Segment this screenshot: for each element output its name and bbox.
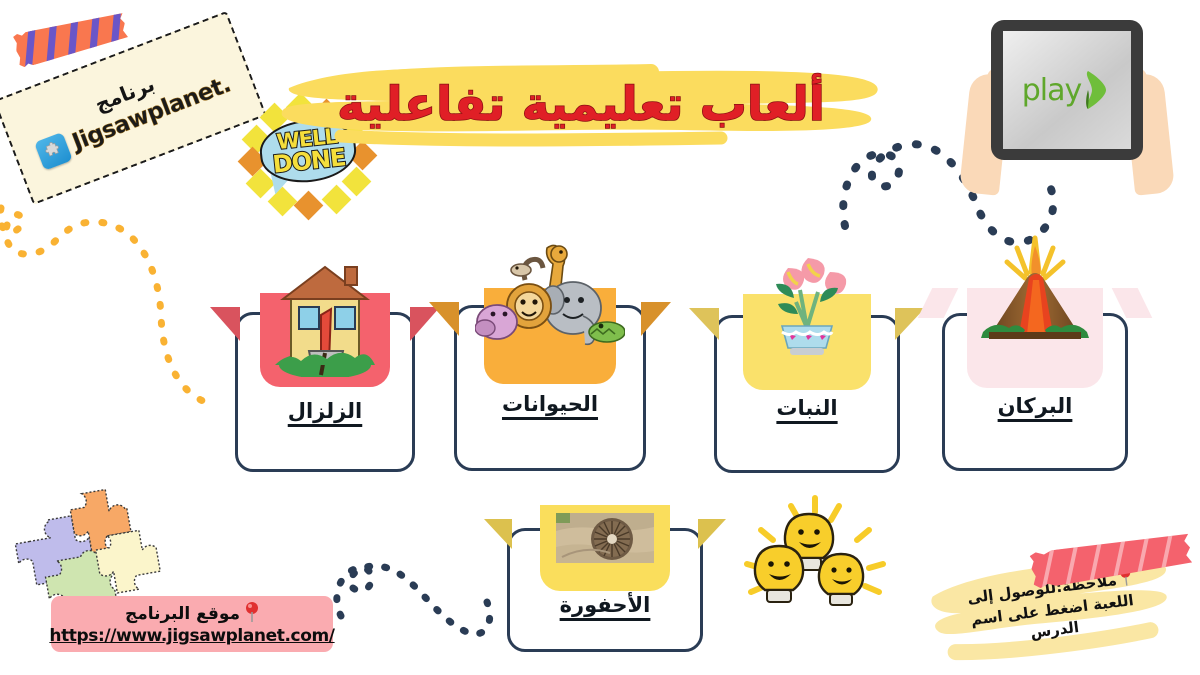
well-done-line2: DONE [273, 146, 348, 176]
website-url[interactable]: https://www.jigsawplanet.com/ [50, 626, 335, 646]
infographic-page: برنامج Jigsawplanet. WELL DONE [0, 0, 1200, 675]
page-title-text: ألعاب تعليمية تفاعلية [272, 58, 892, 150]
banner-wing-left [690, 308, 720, 340]
lesson-card-label[interactable]: الزلزال [239, 399, 413, 423]
play-logo[interactable]: play [1023, 69, 1114, 111]
page-title: ألعاب تعليمية تفاعلية [272, 58, 892, 150]
three-smiling-lightbulbs-icon [738, 492, 893, 627]
erupting-volcano-icon [966, 232, 1106, 362]
lesson-card-volcano[interactable]: البركان [943, 313, 1129, 471]
lesson-card-fossil[interactable]: الأحفورة [508, 528, 704, 652]
lesson-card-animals[interactable]: الحيوانات [455, 305, 647, 471]
lesson-card-label[interactable]: النبات [718, 396, 898, 420]
banner-wing-left [485, 519, 513, 549]
website-label-row: موقع البرنامج [126, 602, 260, 626]
map-pin-icon [246, 602, 260, 626]
website-arabic-label: موقع البرنامج [126, 604, 241, 624]
puzzle-piece-icon [35, 131, 74, 170]
banner-wing-right [642, 302, 672, 336]
tablet-screen: play [1004, 31, 1132, 149]
lesson-card-label[interactable]: البركان [946, 394, 1126, 418]
play-label: play [1023, 73, 1083, 108]
banner-wing-left [919, 288, 960, 318]
tablet-frame: play [992, 20, 1144, 160]
lesson-card-earthquake[interactable]: الزلزال [236, 312, 416, 472]
cracked-house-icon [266, 253, 386, 377]
cartoon-animals-icon [476, 240, 626, 360]
play-arrow-icon [1083, 69, 1113, 111]
banner-wing-left [430, 302, 460, 336]
lesson-card-plant[interactable]: النبات [715, 315, 901, 473]
ammonite-fossil-photo [556, 511, 656, 563]
banner-wing-left [211, 307, 241, 341]
potted-flower-icon [750, 250, 866, 366]
tablet-illustration: play [940, 8, 1190, 223]
lesson-card-label[interactable]: الأحفورة [511, 593, 701, 617]
website-banner[interactable]: موقع البرنامج https://www.jigsawplanet.c… [52, 596, 334, 652]
lesson-card-label[interactable]: الحيوانات [458, 392, 644, 416]
banner-wing-right [699, 519, 727, 549]
banner-wing-right [1113, 288, 1154, 318]
